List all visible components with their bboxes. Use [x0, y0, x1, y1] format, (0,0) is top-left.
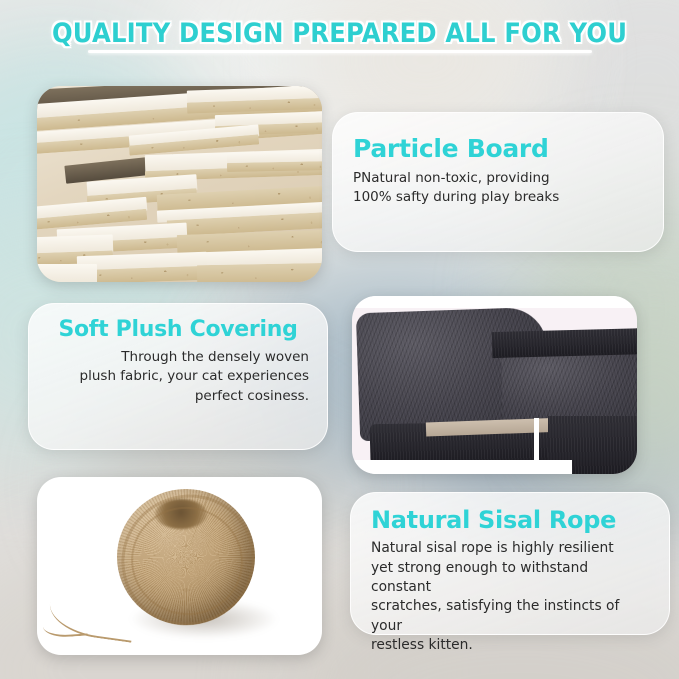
- feature-body-line: PNatural non-toxic, providing: [353, 170, 550, 186]
- feature-body-natural-sisal-rope: Natural sisal rope is highly resilient y…: [371, 539, 651, 655]
- feature-body-line: perfect cosiness.: [195, 388, 309, 404]
- feature-body-line: scratches, satisfying the instincts of y…: [371, 598, 619, 633]
- sisal-rope-photo: [37, 477, 322, 655]
- board-plank: [37, 264, 97, 282]
- feature-body-line: yet strong enough to withstand constant: [371, 560, 588, 595]
- feature-title-particle-board: Particle Board: [353, 135, 643, 163]
- feature-body-line: restless kitten.: [371, 637, 473, 653]
- plush-fabric-photo: [352, 296, 637, 474]
- feature-body-line: 100% safty during play breaks: [353, 189, 559, 205]
- plush-white-top: [352, 296, 637, 308]
- particle-board-photo: [37, 86, 322, 282]
- particle-board-illustration: [37, 86, 322, 282]
- banner-title-wrap: QUALITY DESIGN PREPARED ALL FOR YOU: [0, 18, 679, 49]
- feature-card-soft-plush-covering: Soft Plush Covering Through the densely …: [28, 303, 328, 450]
- feature-card-natural-sisal-rope: Natural Sisal Rope Natural sisal rope is…: [350, 492, 670, 635]
- title-underline: [88, 50, 592, 53]
- infographic-canvas: QUALITY DESIGN PREPARED ALL FOR YOU: [0, 0, 679, 679]
- feature-title-soft-plush-covering: Soft Plush Covering: [47, 318, 309, 342]
- feature-body-soft-plush-covering: Through the densely woven plush fabric, …: [47, 348, 309, 405]
- board-plank: [197, 263, 322, 282]
- feature-body-line: plush fabric, your cat experiences: [80, 368, 309, 384]
- plush-white-base: [352, 460, 572, 474]
- plush-dark-edge: [492, 328, 637, 358]
- feature-body-particle-board: PNatural non-toxic, providing 100% safty…: [353, 169, 643, 207]
- feature-body-line: Natural sisal rope is highly resilient: [371, 540, 614, 556]
- board-plank: [227, 161, 322, 172]
- plush-illustration: [352, 296, 637, 474]
- page-title: QUALITY DESIGN PREPARED ALL FOR YOU: [52, 18, 627, 49]
- feature-title-natural-sisal-rope: Natural Sisal Rope: [371, 507, 651, 533]
- feature-card-particle-board: Particle Board PNatural non-toxic, provi…: [332, 112, 664, 252]
- rope-illustration: [37, 477, 322, 655]
- feature-body-line: Through the densely woven: [121, 349, 309, 365]
